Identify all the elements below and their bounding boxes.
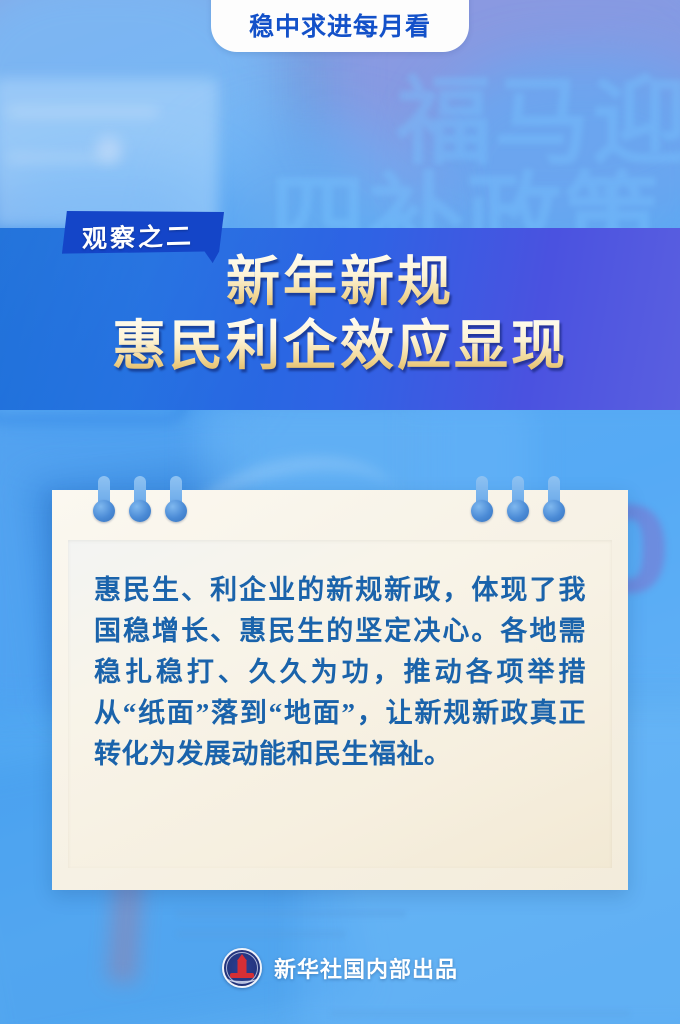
- title-line-2: 惠民利企效应显现: [0, 316, 680, 378]
- background-text-line: [330, 1010, 630, 1017]
- section-tag-shape: 观察之二: [62, 211, 224, 263]
- note-card-body-text: 惠民生、利企业的新规新政，体现了我国稳增长、惠民生的坚定决心。各地需稳扎稳打、久…: [94, 570, 586, 775]
- poster-root: 福马迎 四补政策 1500 稳中求进每月看 观察之二 新年新规 惠民利企效应显现: [0, 0, 680, 1024]
- note-card-binding-pins: [52, 476, 628, 526]
- background-text-line: [176, 910, 406, 918]
- top-banner-label: 稳中求进每月看: [249, 7, 431, 43]
- binding-pin-icon: [548, 476, 560, 522]
- note-card-inner-panel: 惠民生、利企业的新规新政，体现了我国稳增长、惠民生的坚定决心。各地需稳扎稳打、久…: [68, 540, 612, 868]
- section-tag-label: 观察之二: [82, 216, 194, 255]
- binding-pin-icon: [98, 476, 110, 522]
- binding-pin-icon: [134, 476, 146, 522]
- binding-pin-icon: [476, 476, 488, 522]
- binding-pin-icon: [170, 476, 182, 522]
- background-panel-dot: [96, 136, 122, 162]
- top-banner-pill: 稳中求进每月看: [211, 0, 469, 52]
- background-panel-line: [8, 110, 158, 114]
- xinhua-logo-icon: [222, 948, 262, 988]
- background-text-line: [176, 930, 346, 938]
- footer-label: 新华社国内部出品: [274, 952, 458, 984]
- footer: 新华社国内部出品: [0, 948, 680, 988]
- binding-pin-icon: [512, 476, 524, 522]
- page-title: 新年新规 惠民利企效应显现: [0, 252, 680, 377]
- section-tag: 观察之二: [62, 211, 224, 263]
- note-card: 惠民生、利企业的新规新政，体现了我国稳增长、惠民生的坚定决心。各地需稳扎稳打、久…: [52, 490, 628, 890]
